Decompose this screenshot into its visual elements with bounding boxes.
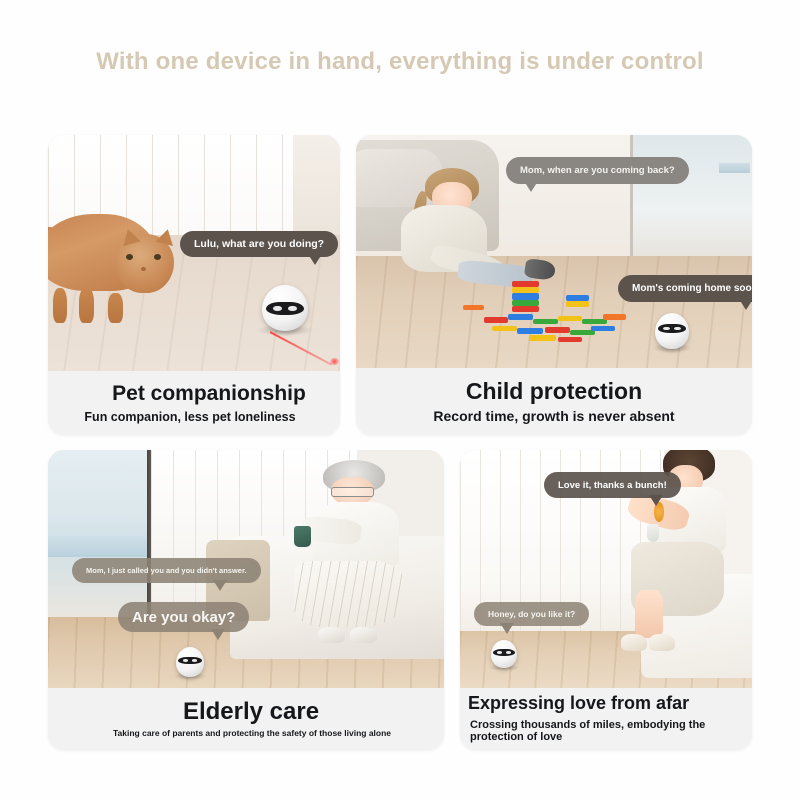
card-subtitle: Fun companion, less pet loneliness bbox=[84, 410, 295, 424]
cat bbox=[48, 197, 200, 321]
window bbox=[630, 135, 752, 261]
companion-robot bbox=[491, 640, 517, 668]
card-title: Child protection bbox=[466, 379, 642, 403]
card-title: Elderly care bbox=[183, 699, 319, 724]
speech-bubble: Mom, when are you coming back? bbox=[506, 157, 689, 184]
card-elderly-care[interactable]: Mom, I just called you and you didn't an… bbox=[48, 450, 444, 750]
elder-caption: Elderly care Taking care of parents and … bbox=[48, 688, 444, 750]
promo-page: With one device in hand, everything is u… bbox=[0, 0, 800, 800]
child-caption: Child protection Record time, growth is … bbox=[356, 368, 752, 435]
card-title: Expressing love from afar bbox=[468, 694, 689, 713]
cup bbox=[647, 524, 659, 542]
elder-scene-photo: Mom, I just called you and you didn't an… bbox=[48, 450, 444, 688]
window bbox=[48, 450, 155, 617]
pet-caption: Pet companionship Fun companion, less pe… bbox=[48, 371, 340, 435]
love-caption: Expressing love from afar Crossing thous… bbox=[460, 688, 752, 750]
card-pet-companionship[interactable]: Lulu, what are you doing? Pet companions… bbox=[48, 135, 340, 435]
page-headline: With one device in hand, everything is u… bbox=[0, 48, 800, 76]
companion-robot bbox=[176, 647, 204, 677]
companion-robot bbox=[655, 313, 689, 349]
speech-bubble: Lulu, what are you doing? bbox=[180, 231, 338, 257]
companion-robot bbox=[262, 285, 308, 331]
card-child-protection[interactable]: Mom, when are you coming back? Mom's com… bbox=[356, 135, 752, 435]
love-scene-photo: Love it, thanks a bunch! Honey, do you l… bbox=[460, 450, 752, 688]
card-title: Pet companionship bbox=[112, 383, 306, 405]
pet-scene-photo: Lulu, what are you doing? bbox=[48, 135, 340, 373]
card-subtitle: Crossing thousands of miles, embodying t… bbox=[470, 719, 752, 744]
card-expressing-love[interactable]: Love it, thanks a bunch! Honey, do you l… bbox=[460, 450, 752, 750]
elderly-woman bbox=[286, 460, 421, 655]
card-subtitle: Taking care of parents and protecting th… bbox=[113, 729, 391, 739]
speech-bubble: Honey, do you like it? bbox=[474, 602, 589, 626]
ocean-view bbox=[48, 536, 155, 557]
speech-bubble: Love it, thanks a bunch! bbox=[544, 472, 681, 498]
mug bbox=[294, 526, 312, 547]
speech-bubble: Are you okay? bbox=[118, 602, 249, 632]
speech-bubble: Mom, I just called you and you didn't an… bbox=[72, 558, 261, 583]
speech-bubble: Mom's coming home soon! bbox=[618, 275, 752, 302]
child-scene-photo: Mom, when are you coming back? Mom's com… bbox=[356, 135, 752, 368]
card-subtitle: Record time, growth is never absent bbox=[433, 408, 674, 424]
laser-dot bbox=[330, 358, 339, 365]
